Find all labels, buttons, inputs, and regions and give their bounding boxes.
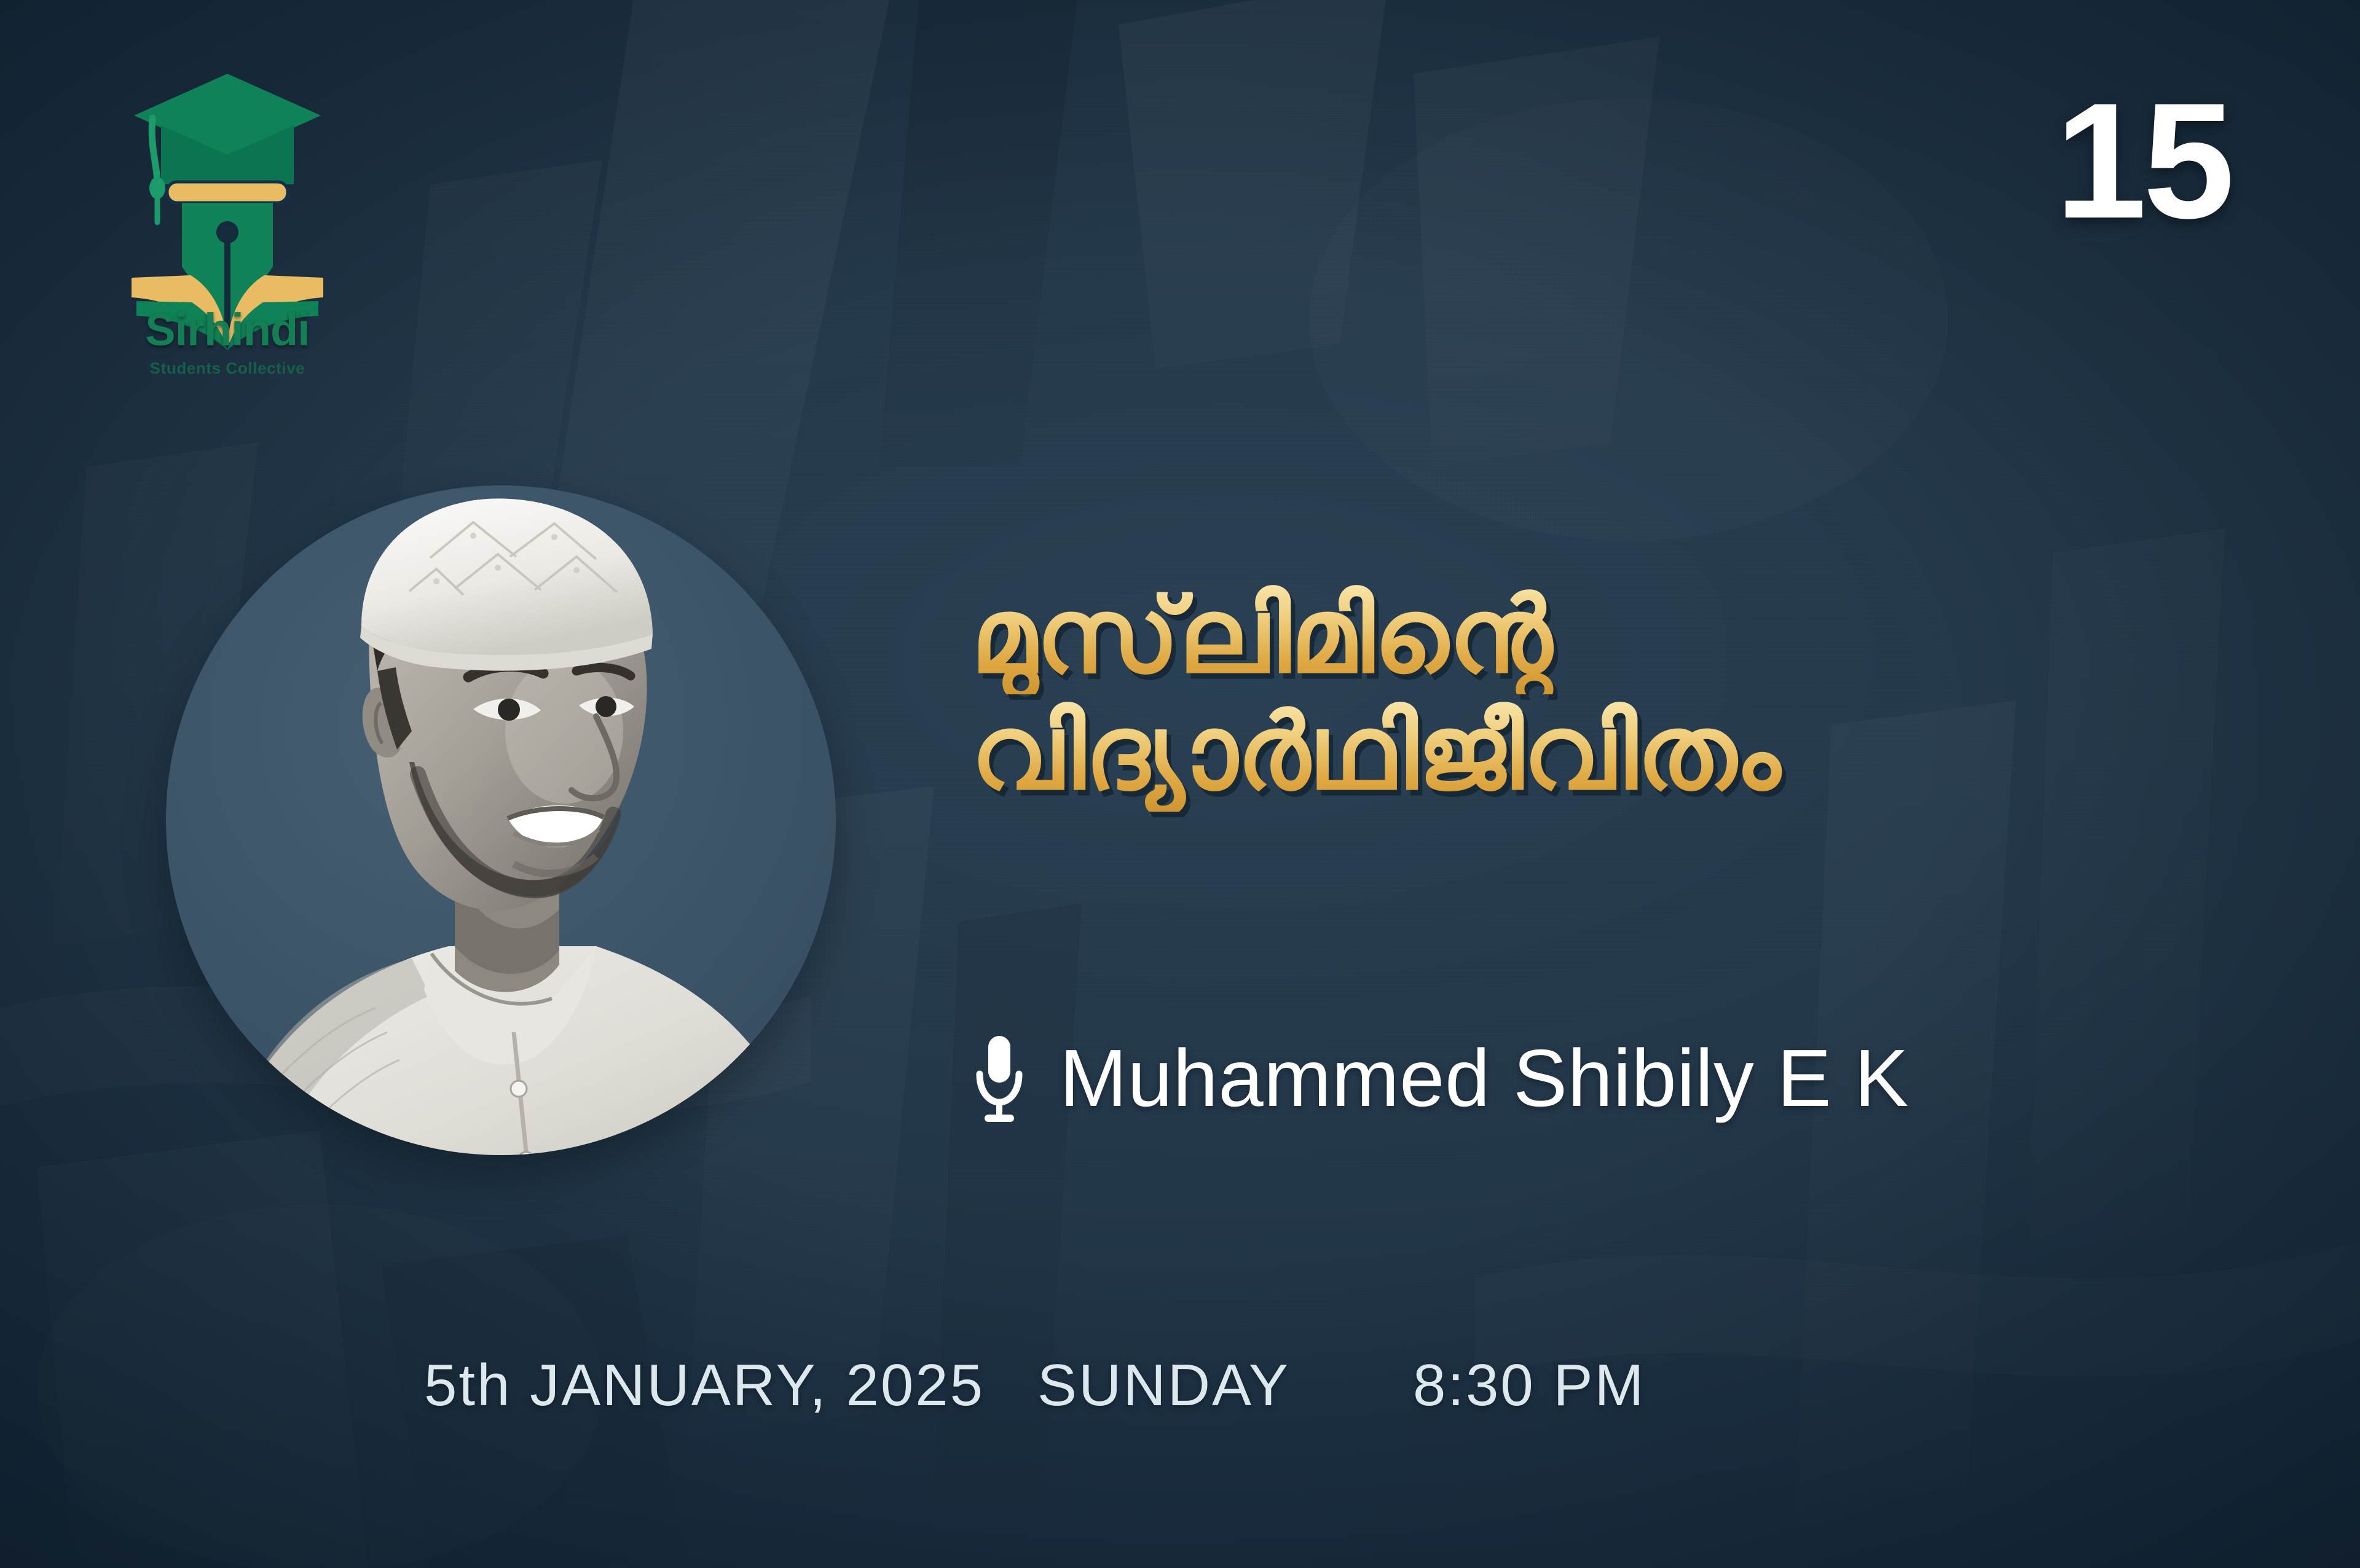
event-title: മുസ്‌ലിമിന്റെ വിദ്യാർഥിജീവിതം bbox=[971, 578, 2237, 812]
event-poster: Sirhindi Students Collective 15 bbox=[0, 0, 2360, 1568]
brand-logo: Sirhindi Students Collective bbox=[123, 61, 332, 406]
title-line-2: വിദ്യാർഥിജീവിതം bbox=[971, 694, 2237, 811]
brand-tagline: Students Collective bbox=[123, 360, 332, 376]
microphone-icon bbox=[971, 1032, 1028, 1124]
event-date: 5th JANUARY, 2025 bbox=[424, 1352, 985, 1419]
event-time: 8:30 PM bbox=[1413, 1352, 1646, 1419]
episode-number: 15 bbox=[2055, 85, 2231, 237]
speaker-row: Muhammed Shibily E K bbox=[971, 1032, 1909, 1124]
schedule-row: 5th JANUARY, 2025 SUNDAY 8:30 PM bbox=[424, 1352, 1645, 1419]
speaker-name: Muhammed Shibily E K bbox=[1060, 1038, 1909, 1119]
speaker-portrait bbox=[166, 442, 836, 1210]
brand-name: Sirhindi bbox=[123, 307, 332, 353]
portrait-photo bbox=[166, 442, 836, 1210]
event-day: SUNDAY bbox=[1037, 1352, 1290, 1419]
title-line-1: മുസ്‌ലിമിന്റെ bbox=[971, 578, 2237, 694]
